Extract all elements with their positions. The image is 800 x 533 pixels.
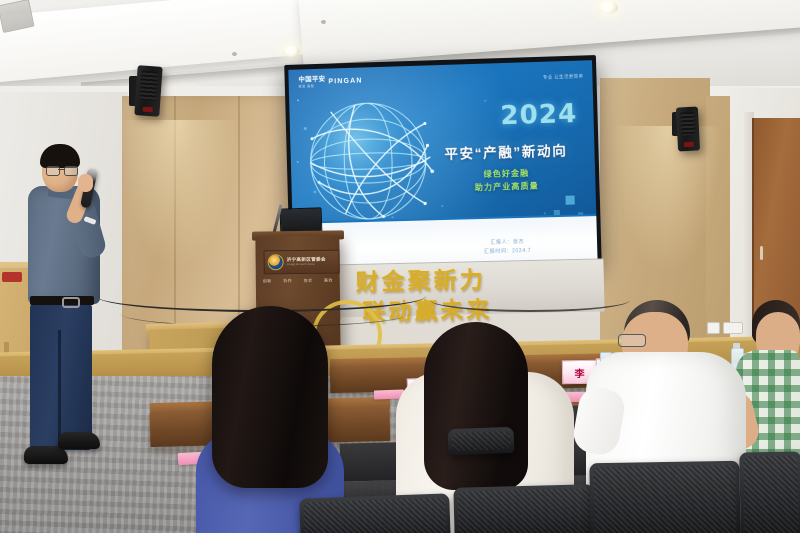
- presenter-leg-seam: [58, 330, 61, 450]
- bottle-cap: [733, 343, 740, 349]
- office-chair[interactable]: [453, 484, 594, 533]
- sprinkler-icon: [321, 20, 326, 24]
- wall-light-glow: [118, 120, 238, 270]
- slide-subtitle: 绿色好金融 助力产业高质量: [418, 165, 595, 196]
- brand-name-cn: 中国平安: [298, 77, 325, 84]
- presenter-hand: [78, 174, 93, 192]
- cable: [430, 288, 630, 312]
- accent-square: [565, 195, 574, 204]
- audience-woman-blue-hair: [212, 306, 328, 488]
- wall-light-glow: [612, 126, 722, 276]
- podium-org-cn: 济宁高新区管委会: [287, 258, 326, 263]
- podium-org-en: Jining Hi-tech Zone: [287, 263, 326, 266]
- organization-emblem-icon: [268, 254, 284, 270]
- brand-slogan: 专业 让生活更简单: [543, 74, 583, 81]
- office-chair[interactable]: [739, 451, 800, 533]
- glasses-icon: [618, 334, 646, 347]
- presenter-shoe: [58, 432, 100, 449]
- light-switch[interactable]: [707, 322, 720, 334]
- placard-name: 李: [574, 364, 585, 379]
- office-chair[interactable]: [448, 427, 515, 455]
- audience-woman-white-hair: [424, 322, 528, 490]
- wall-speaker-right: [676, 106, 700, 151]
- wall-speaker-left: [134, 65, 162, 117]
- office-chair[interactable]: [299, 493, 451, 533]
- belt-buckle: [62, 297, 80, 308]
- conference-room-photo: 中国平安 财富 保险 PINGAN 专业 让生活更简单 2024 平安“产融”新…: [0, 0, 800, 533]
- downlight-icon: [283, 46, 300, 57]
- glasses-icon: [46, 166, 76, 174]
- podium-plaque: 济宁高新区管委会 Jining Hi-tech Zone: [264, 250, 340, 275]
- brand-name-en: PINGAN: [328, 77, 362, 85]
- presenter-legs: [30, 302, 92, 450]
- office-chair[interactable]: [589, 461, 740, 533]
- downlight-icon: [598, 1, 618, 14]
- power-outlet[interactable]: [723, 322, 743, 334]
- red-box-item: [2, 272, 22, 282]
- slide-year: 2024: [500, 99, 578, 131]
- sprinkler-icon: [232, 52, 237, 56]
- pingan-logo: 中国平安 财富 保险 PINGAN: [298, 75, 362, 87]
